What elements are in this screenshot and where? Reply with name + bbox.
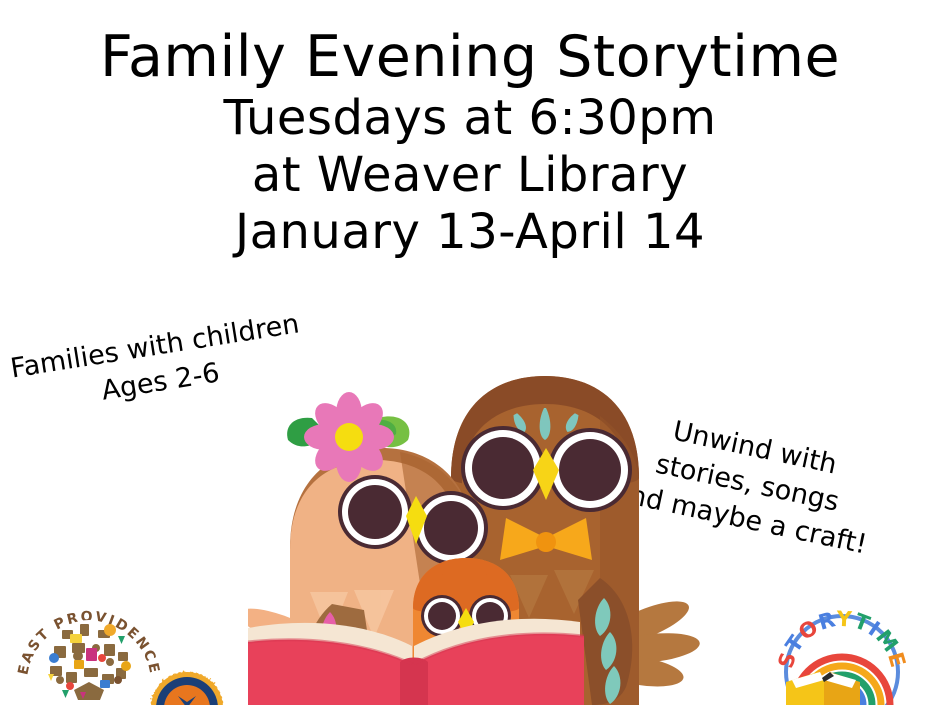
dad-body (451, 376, 639, 705)
leaf-right-inner (364, 420, 396, 440)
book-edge-right (414, 634, 584, 664)
seal-outer-ring (151, 672, 223, 705)
baby-chest-marking (452, 642, 482, 672)
baby-body (413, 558, 519, 690)
mom-tail-feathers (248, 601, 326, 701)
dad-face-patch (462, 404, 628, 610)
flower-petals (304, 392, 394, 482)
headline-block: Family Evening Storytime Tuesdays at 6:3… (0, 24, 940, 261)
dad-bowtie (500, 518, 592, 560)
dad-wing-feathers (595, 598, 620, 704)
mom-beak (406, 496, 427, 544)
dad-chest-markings (510, 570, 594, 618)
mom-chest-markings (310, 590, 394, 640)
mom-left-eye (338, 475, 412, 549)
headline-line-time: Tuesdays at 6:30pm (0, 90, 940, 147)
page-title: Family Evening Storytime (0, 24, 940, 90)
leaf-right (364, 416, 409, 447)
city-of-east-providence-seal: city of east providence (142, 668, 232, 705)
east-providence-logo: EAST PROVIDENCE (14, 586, 164, 705)
storytime-logo: STORYTIME (772, 610, 912, 705)
seal-bird (178, 696, 196, 705)
book-page-left (248, 623, 412, 705)
dad-wing (578, 578, 632, 705)
baby-left-eye (421, 595, 463, 637)
dad-beak (533, 448, 559, 500)
flower-center (335, 423, 363, 451)
mom-wing-feathers (315, 612, 362, 705)
baby-crown-feathers (442, 566, 495, 596)
mom-face-patch (290, 460, 454, 660)
headline-line-dates: January 13-April 14 (0, 204, 940, 261)
leaf-left (287, 418, 326, 447)
east-providence-arc-text: EAST PROVIDENCE (15, 609, 162, 676)
storytime-book (786, 672, 860, 705)
book-page-right (414, 619, 580, 705)
poster-canvas: Family Evening Storytime Tuesdays at 6:3… (0, 0, 940, 705)
dad-tail-feathers (594, 593, 700, 692)
book-edge-left (248, 640, 412, 664)
mom-wing (305, 604, 378, 705)
rainbow-arcs (794, 657, 890, 705)
caption-activities: Unwind with stories, songs and maybe a c… (610, 404, 885, 563)
seal-arc-text: city of east providence (148, 669, 226, 705)
mom-right-eye (414, 491, 488, 565)
book-spine (400, 658, 428, 705)
seal-field (156, 677, 218, 705)
headline-line-location: at Weaver Library (0, 147, 940, 204)
caption-audience: Families with children Ages 2-6 (8, 306, 308, 423)
mom-head-shading (400, 452, 474, 620)
baby-right-eye (469, 595, 511, 637)
storytime-wordmark: STORYTIME (774, 610, 911, 671)
dad-head-cap (451, 376, 639, 489)
mom-body (290, 448, 474, 705)
open-book (248, 619, 584, 705)
baby-beak (458, 608, 474, 638)
book-cover-left (248, 640, 412, 705)
dad-left-eye (461, 426, 545, 510)
baby-head-cap (413, 558, 519, 614)
dad-brow-tufts (511, 408, 580, 440)
icon-collage (45, 620, 133, 705)
flower-decoration (287, 392, 409, 482)
book-cover-right (414, 634, 584, 705)
storytime-circle (786, 616, 898, 705)
seal-sun (164, 685, 210, 705)
